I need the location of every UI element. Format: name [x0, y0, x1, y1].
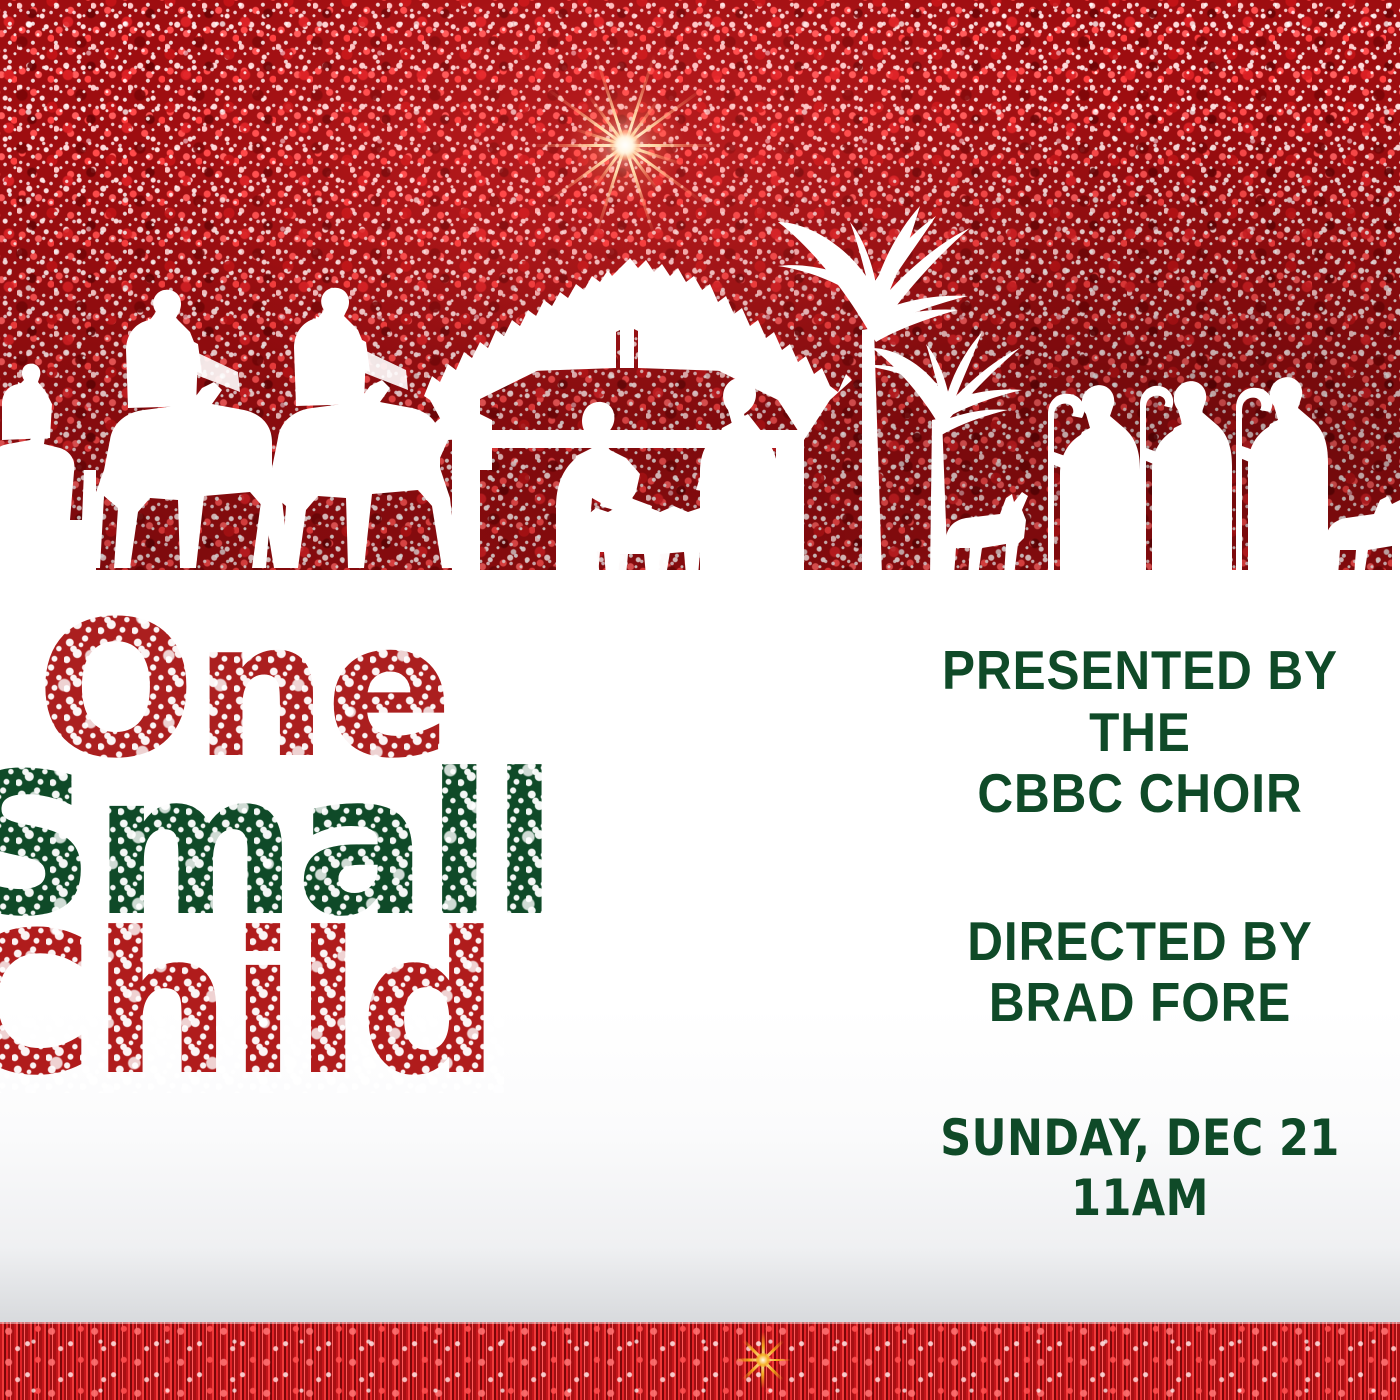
event-time: 11AM: [899, 1168, 1381, 1228]
shepherd-3: [1236, 377, 1328, 576]
credits-spacer-1: [860, 825, 1400, 911]
gold-sparkle-icon: [735, 1332, 791, 1388]
presented-by-line-1: PRESENTED BY THE: [888, 640, 1392, 763]
sheep-silhouette: [1326, 496, 1400, 576]
bottom-strip-edge-highlight: [0, 1322, 1400, 1324]
event-date: SUNDAY, DEC 21: [899, 1108, 1381, 1168]
shepherd-1: [1048, 385, 1140, 576]
show-title: One Small Child: [0, 612, 716, 1087]
credits-column: PRESENTED BY THE CBBC CHOIR DIRECTED BY …: [860, 640, 1400, 1228]
title-line-child: Child: [0, 923, 716, 1088]
presented-by-line-2: CBBC CHOIR: [888, 763, 1392, 825]
poster-canvas: One Small Child PRESENTED BY THE CBBC CH…: [0, 0, 1400, 1400]
nativity-silhouette-scene: [0, 0, 1400, 600]
title-word-child: Child: [0, 923, 498, 1088]
credits-spacer-2: [860, 1034, 1400, 1108]
donkey-silhouette: [946, 492, 1028, 576]
directed-by-line-2: BRAD FORE: [888, 972, 1392, 1034]
camel-wise-man-1: [0, 364, 96, 570]
bottom-strip-sparkles: [0, 1322, 1400, 1400]
bottom-glitter-strip: [0, 1322, 1400, 1400]
shepherd-2: [1140, 381, 1232, 576]
directed-by-line-1: DIRECTED BY: [888, 911, 1392, 973]
